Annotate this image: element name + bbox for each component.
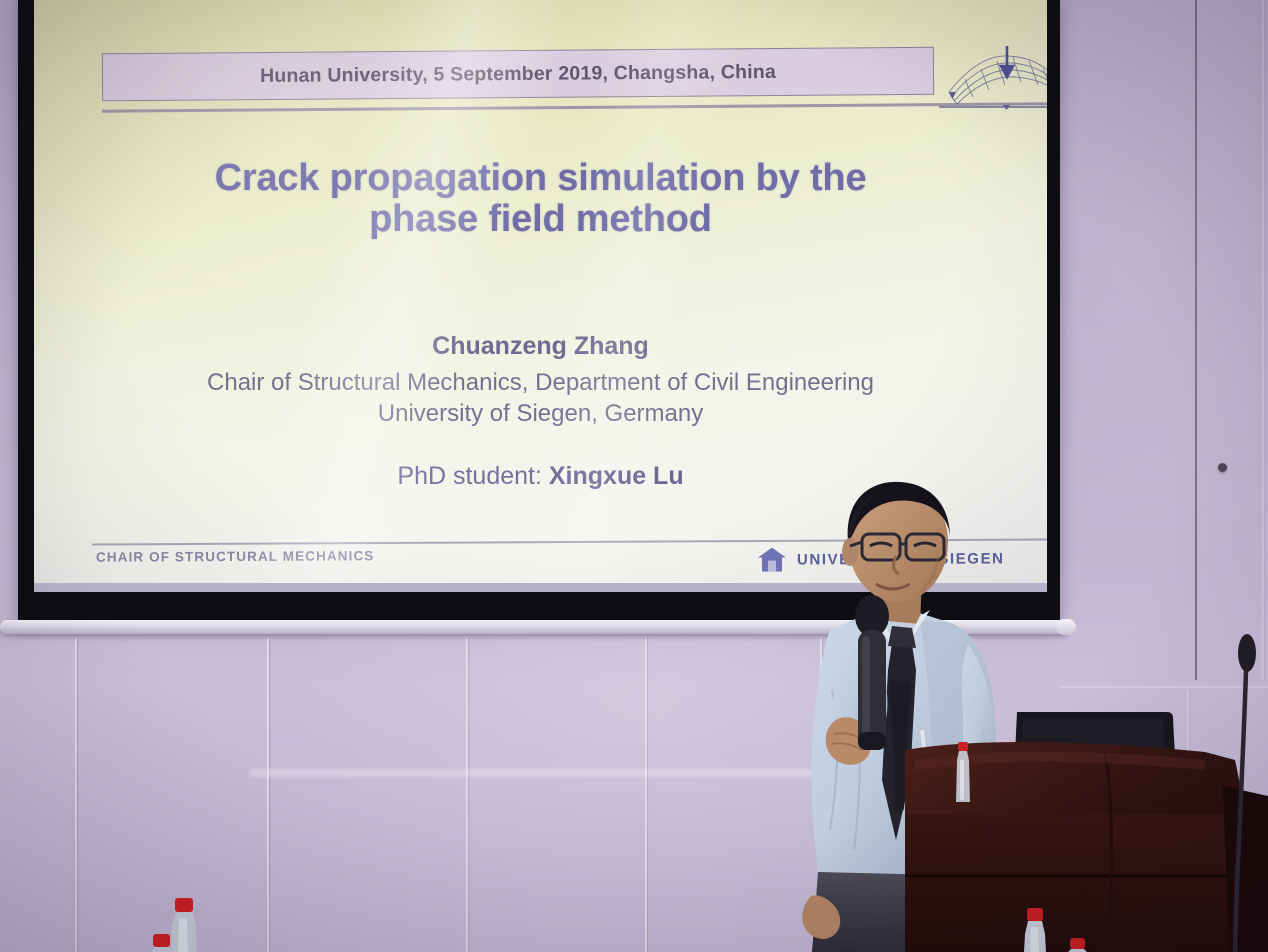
author-affiliation-line-2: University of Siegen, Germany bbox=[34, 399, 1047, 430]
slide-footer-left-text: CHAIR OF STRUCTURAL MECHANICS bbox=[96, 548, 374, 564]
microphone-capsule bbox=[1238, 634, 1256, 672]
slide-header-box: Hunan University, 5 September 2019, Chan… bbox=[102, 47, 934, 102]
author-affiliation: Chair of Structural Mechanics, Departmen… bbox=[34, 368, 1047, 429]
handheld-microphone bbox=[855, 595, 889, 750]
wall-seam-1 bbox=[75, 638, 77, 952]
slide-header-rule bbox=[102, 102, 1047, 112]
water-bottle-right-2 bbox=[1063, 938, 1093, 952]
wooden-lectern bbox=[905, 690, 1268, 952]
microphone-gooseneck bbox=[1235, 671, 1246, 952]
slide-title: Crack propagation simulation by the phas… bbox=[34, 158, 1047, 240]
author-name: Chuanzeng Zhang bbox=[34, 332, 1047, 361]
presentation-room-photo: Hunan University, 5 September 2019, Chan… bbox=[0, 0, 1268, 952]
slide-header-text: Hunan University, 5 September 2019, Chan… bbox=[260, 60, 776, 87]
phd-student-label: PhD student: bbox=[397, 462, 542, 490]
water-bottle-left-2 bbox=[145, 934, 179, 952]
curved-shell-mesh-diagram-icon bbox=[939, 44, 1047, 110]
wall-seam-2 bbox=[267, 638, 269, 952]
wall-seam-3 bbox=[466, 638, 468, 952]
phd-student-name: Xingxue Lu bbox=[549, 462, 684, 490]
wall-seam-upper-right-2 bbox=[1262, 0, 1264, 680]
wall-seam-upper-right bbox=[1195, 0, 1197, 680]
gooseneck-microphone bbox=[1228, 625, 1260, 952]
author-affiliation-line-1: Chair of Structural Mechanics, Departmen… bbox=[34, 368, 1047, 399]
slide-title-line-1: Crack propagation simulation by the bbox=[34, 158, 1047, 199]
water-bottle-podium bbox=[950, 742, 976, 804]
wall-seam-4 bbox=[645, 638, 647, 952]
wall-sensor-dot bbox=[1218, 463, 1227, 472]
lectern-front bbox=[905, 814, 1253, 952]
slide-title-line-2: phase field method bbox=[34, 199, 1047, 240]
water-bottle-right-1 bbox=[1018, 908, 1052, 952]
